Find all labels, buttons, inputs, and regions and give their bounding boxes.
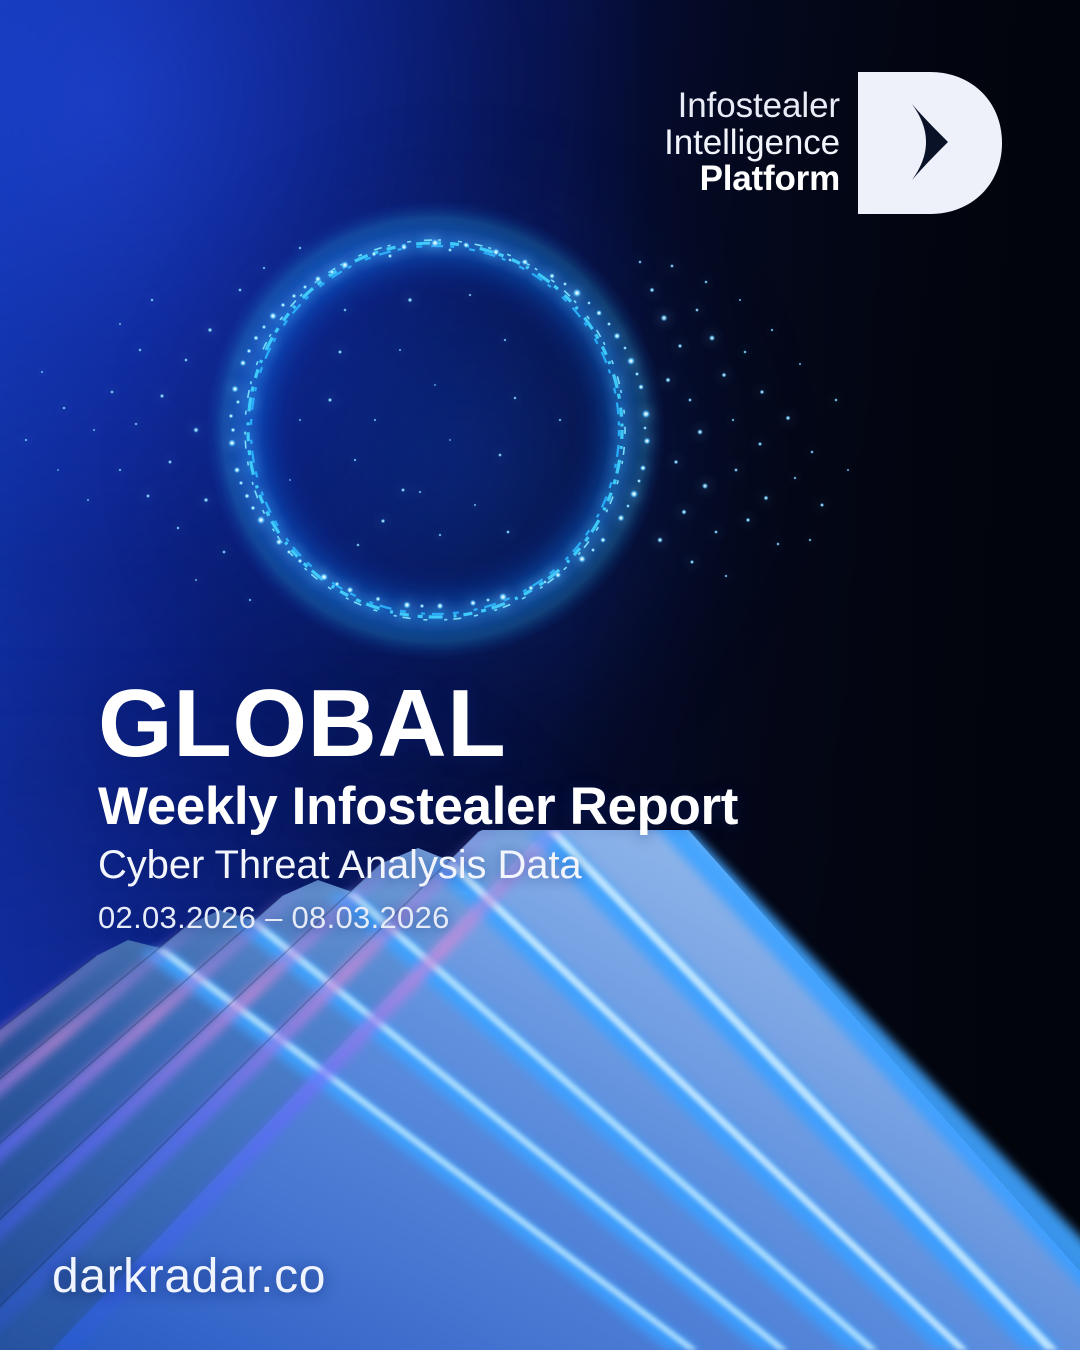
brand-logo-lockup: Infostealer Intelligence Platform — [664, 70, 1006, 216]
poster-canvas: Infostealer Intelligence Platform GLOBAL… — [0, 0, 1080, 1350]
logo-line-infostealer: Infostealer — [678, 88, 840, 124]
report-descriptor: Cyber Threat Analysis Data — [98, 843, 918, 887]
headline-block: GLOBAL Weekly Infostealer Report Cyber T… — [98, 676, 918, 935]
darkradar-d-arrow-logo-icon — [854, 70, 1006, 216]
report-date-range: 02.03.2026 – 08.03.2026 — [98, 901, 918, 935]
page-title: GLOBAL — [98, 676, 918, 772]
website-url[interactable]: darkradar.co — [52, 1249, 326, 1304]
logo-line-platform: Platform — [700, 161, 840, 197]
logo-line-intelligence: Intelligence — [664, 125, 840, 161]
report-subtitle: Weekly Infostealer Report — [98, 778, 918, 835]
brand-logo-text: Infostealer Intelligence Platform — [664, 88, 840, 197]
